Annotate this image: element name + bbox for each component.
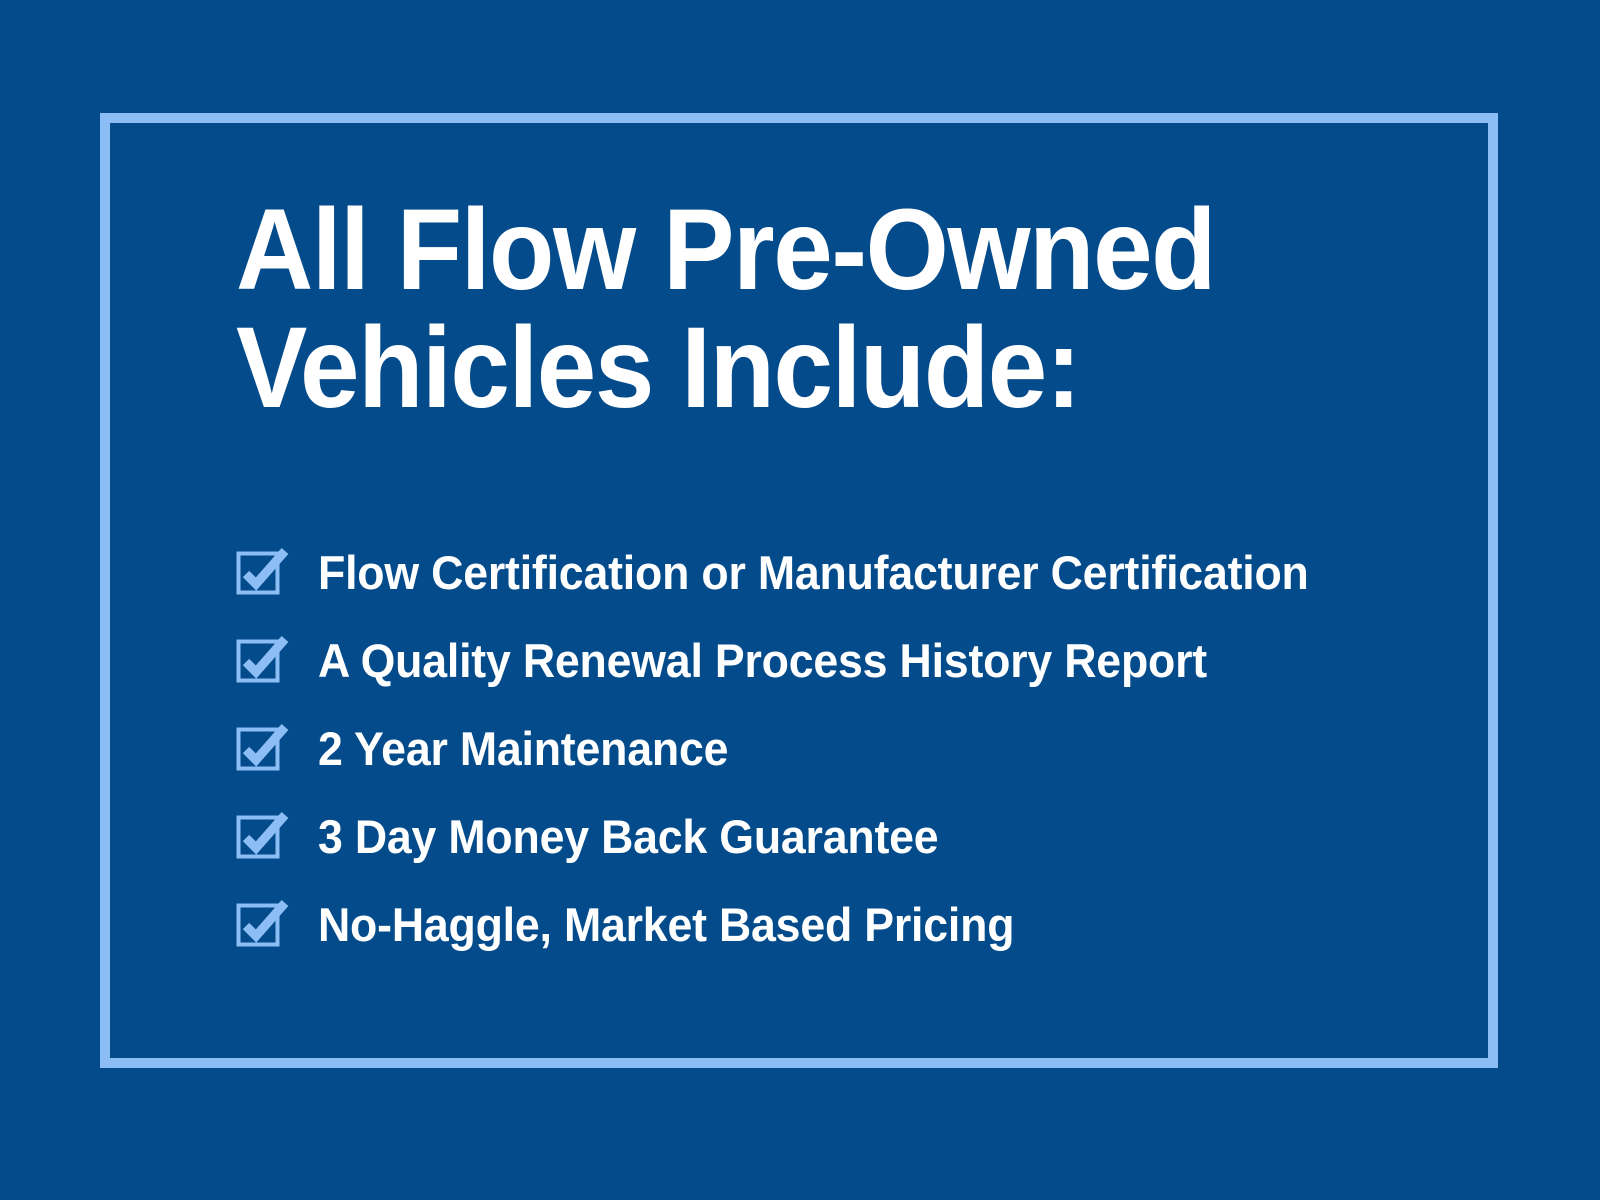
list-item: A Quality Renewal Process History Report (236, 617, 1486, 705)
list-item: No-Haggle, Market Based Pricing (236, 881, 1486, 969)
list-item: 3 Day Money Back Guarantee (236, 793, 1486, 881)
checkbox-checked-icon (236, 638, 288, 684)
page-title-line-1: All Flow Pre-Owned (236, 191, 1215, 309)
promo-poster: All Flow Pre-Owned Vehicles Include: Flo… (0, 0, 1600, 1200)
list-item-label: 3 Day Money Back Guarantee (318, 812, 938, 862)
list-item-label: Flow Certification or Manufacturer Certi… (318, 548, 1309, 598)
checkbox-checked-icon (236, 814, 288, 860)
benefits-list: Flow Certification or Manufacturer Certi… (236, 529, 1486, 969)
page-title: All Flow Pre-Owned Vehicles Include: (236, 191, 1215, 427)
checkbox-checked-icon (236, 550, 288, 596)
poster-content: All Flow Pre-Owned Vehicles Include: Flo… (236, 113, 1486, 1068)
checkbox-checked-icon (236, 902, 288, 948)
list-item-label: No-Haggle, Market Based Pricing (318, 900, 1014, 950)
list-item: 2 Year Maintenance (236, 705, 1486, 793)
list-item: Flow Certification or Manufacturer Certi… (236, 529, 1486, 617)
checkbox-checked-icon (236, 726, 288, 772)
list-item-label: A Quality Renewal Process History Report (318, 636, 1207, 686)
page-title-line-2: Vehicles Include: (236, 309, 1215, 427)
list-item-label: 2 Year Maintenance (318, 724, 728, 774)
